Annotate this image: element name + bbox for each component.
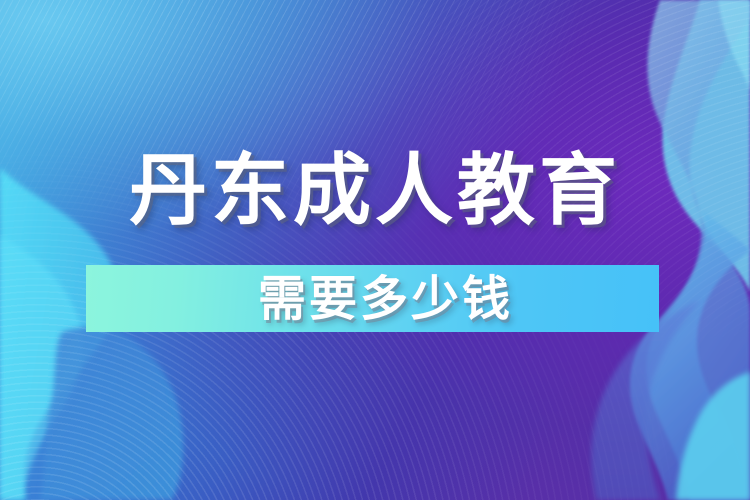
page-title: 丹东成人教育	[129, 152, 621, 230]
promo-banner: 丹东成人教育 需要多少钱	[0, 0, 750, 500]
fine-line-texture-right	[0, 0, 750, 500]
subtitle-highlight-bar: 需要多少钱	[86, 265, 659, 332]
subtitle: 需要多少钱	[232, 275, 513, 323]
title-block: 丹东成人教育	[0, 152, 750, 230]
